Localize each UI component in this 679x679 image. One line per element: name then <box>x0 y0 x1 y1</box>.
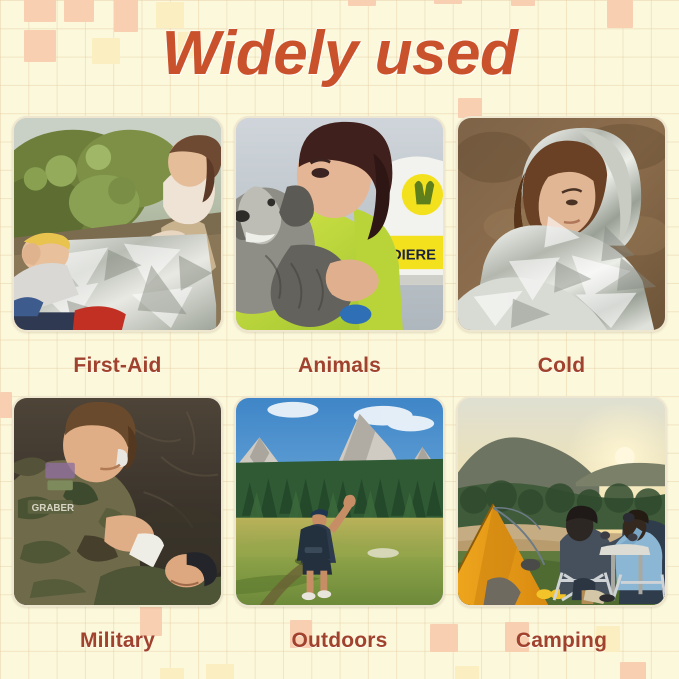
decorative-square <box>458 98 482 118</box>
card-caption: First-Aid <box>12 332 223 396</box>
poster-canvas: Widely used <box>0 0 679 679</box>
category-card-outdoors[interactable]: Outdoors <box>234 396 445 671</box>
svg-text:GRABER: GRABER <box>32 503 74 514</box>
first-aid-photo <box>12 116 223 332</box>
camping-photo <box>456 396 667 607</box>
category-card-camping[interactable]: Camping <box>456 396 667 671</box>
decorative-square <box>0 392 12 418</box>
category-card-cold[interactable]: Cold <box>456 116 667 396</box>
animals-photo: DIERE <box>234 116 445 332</box>
category-card-animals[interactable]: DIERE <box>234 116 445 396</box>
decorative-square <box>348 0 376 6</box>
card-caption: Military <box>12 607 223 671</box>
cold-photo <box>456 116 667 332</box>
outdoors-photo <box>234 396 445 607</box>
card-caption: Camping <box>456 607 667 671</box>
page-title: Widely used <box>0 18 679 90</box>
card-caption: Cold <box>456 332 667 396</box>
category-card-first-aid[interactable]: First-Aid <box>12 116 223 396</box>
decorative-square <box>434 0 462 4</box>
decorative-square <box>511 0 535 6</box>
military-photo: GRABER <box>12 396 223 607</box>
card-caption: Animals <box>234 332 445 396</box>
category-card-grid: First-Aid <box>12 116 667 671</box>
category-card-military[interactable]: GRABER Military <box>12 396 223 671</box>
card-caption: Outdoors <box>234 607 445 671</box>
